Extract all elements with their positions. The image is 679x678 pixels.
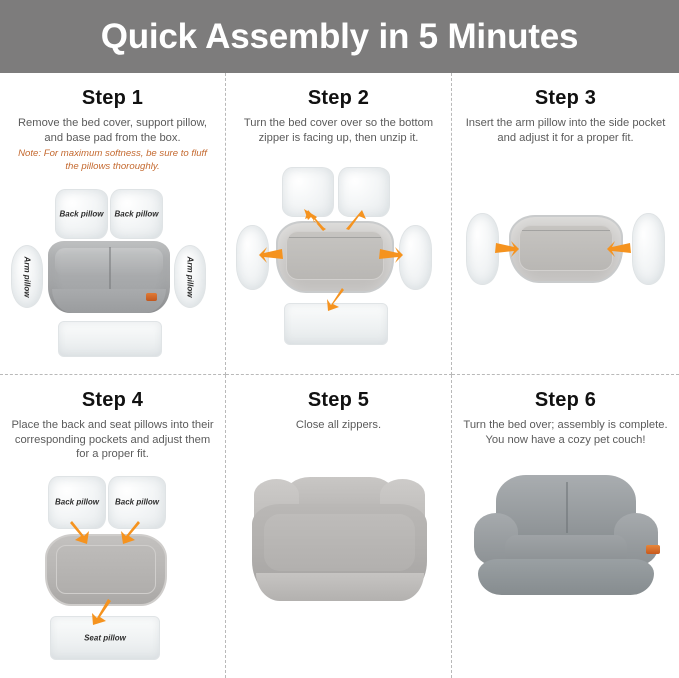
cover-inner-panel bbox=[286, 231, 384, 280]
step-title-5: Step 5 bbox=[226, 389, 451, 412]
back-pillow-right: Back pillow bbox=[110, 189, 163, 239]
couch-base bbox=[478, 559, 655, 595]
step-note-1: Note: For maximum softness, be sure to f… bbox=[0, 148, 225, 173]
brand-tag-icon bbox=[646, 545, 660, 554]
bed-cover-flipped bbox=[276, 221, 394, 293]
step-2-illustration bbox=[226, 159, 451, 374]
bottom-zipper bbox=[522, 230, 610, 232]
step-6-illustration bbox=[452, 467, 679, 657]
step-panel-5: Step 5 Close all zippers. bbox=[226, 375, 452, 678]
step-description-1: Remove the bed cover, support pillow, an… bbox=[0, 116, 225, 145]
step-4-illustration: Back pillow Back pillow Seat pillow bbox=[0, 476, 225, 666]
step-description-2: Turn the bed cover over so the bottom zi… bbox=[226, 116, 451, 145]
step-1-illustration: Back pillow Back pillow Arm pillow Arm p… bbox=[0, 173, 225, 363]
back-pillow-right-label: Back pillow bbox=[109, 498, 165, 507]
bottom-zipper bbox=[289, 237, 380, 239]
brand-tag-icon bbox=[146, 293, 157, 301]
step-panel-1: Step 1 Remove the bed cover, support pil… bbox=[0, 73, 226, 375]
step-description-3: Insert the arm pillow into the side pock… bbox=[452, 116, 679, 145]
bed-cover-assembled bbox=[45, 534, 167, 606]
step-title-3: Step 3 bbox=[452, 87, 679, 110]
base-pad bbox=[58, 321, 162, 357]
assembled-bed bbox=[252, 477, 427, 601]
arm-pillow-right-label: Arm pillow bbox=[186, 247, 195, 307]
step-panel-6: Step 6 Turn the bed over; assembly is co… bbox=[452, 375, 679, 678]
seat-pillow-label: Seat pillow bbox=[51, 633, 159, 642]
step-title-6: Step 6 bbox=[452, 389, 679, 412]
step-panel-4: Step 4 Place the back and seat pillows i… bbox=[0, 375, 226, 678]
steps-grid: Step 1 Remove the bed cover, support pil… bbox=[0, 73, 679, 678]
step-title-1: Step 1 bbox=[0, 87, 225, 110]
arm-pillow-left: Arm pillow bbox=[11, 245, 43, 308]
arm-pillow-left-label: Arm pillow bbox=[23, 247, 32, 307]
back-pillow-left-label: Back pillow bbox=[56, 210, 107, 219]
header-bar: Quick Assembly in 5 Minutes bbox=[0, 0, 679, 73]
finished-pet-couch bbox=[474, 475, 658, 595]
step-3-illustration bbox=[452, 193, 679, 383]
arm-pillow-right: Arm pillow bbox=[174, 245, 206, 308]
step-title-4: Step 4 bbox=[0, 389, 225, 412]
step-description-5: Close all zippers. bbox=[226, 418, 451, 433]
arm-pillow-right bbox=[632, 213, 665, 285]
assembly-infographic: Quick Assembly in 5 Minutes Step 1 Remov… bbox=[0, 0, 679, 678]
back-pillow-left-label: Back pillow bbox=[49, 498, 105, 507]
bed-skirt bbox=[256, 573, 424, 600]
bed-cushion bbox=[264, 514, 415, 571]
step-description-4: Place the back and seat pillows into the… bbox=[0, 418, 225, 462]
step-description-6: Turn the bed over; assembly is complete.… bbox=[452, 418, 679, 447]
step-panel-2: Step 2 Turn the bed cover over so the bo… bbox=[226, 73, 452, 375]
back-pillow-right-label: Back pillow bbox=[111, 210, 162, 219]
bed-cover-gray bbox=[48, 241, 170, 313]
cover-inner-panel bbox=[56, 545, 155, 594]
step-5-illustration bbox=[226, 467, 451, 657]
back-pillow-left: Back pillow bbox=[55, 189, 108, 239]
step-title-2: Step 2 bbox=[226, 87, 451, 110]
page-title: Quick Assembly in 5 Minutes bbox=[101, 17, 579, 57]
couch-back-seam bbox=[566, 482, 568, 532]
cover-seam bbox=[109, 247, 111, 292]
step-panel-3: Step 3 Insert the arm pillow into the si… bbox=[452, 73, 679, 375]
cover-inner-panel bbox=[519, 225, 614, 271]
